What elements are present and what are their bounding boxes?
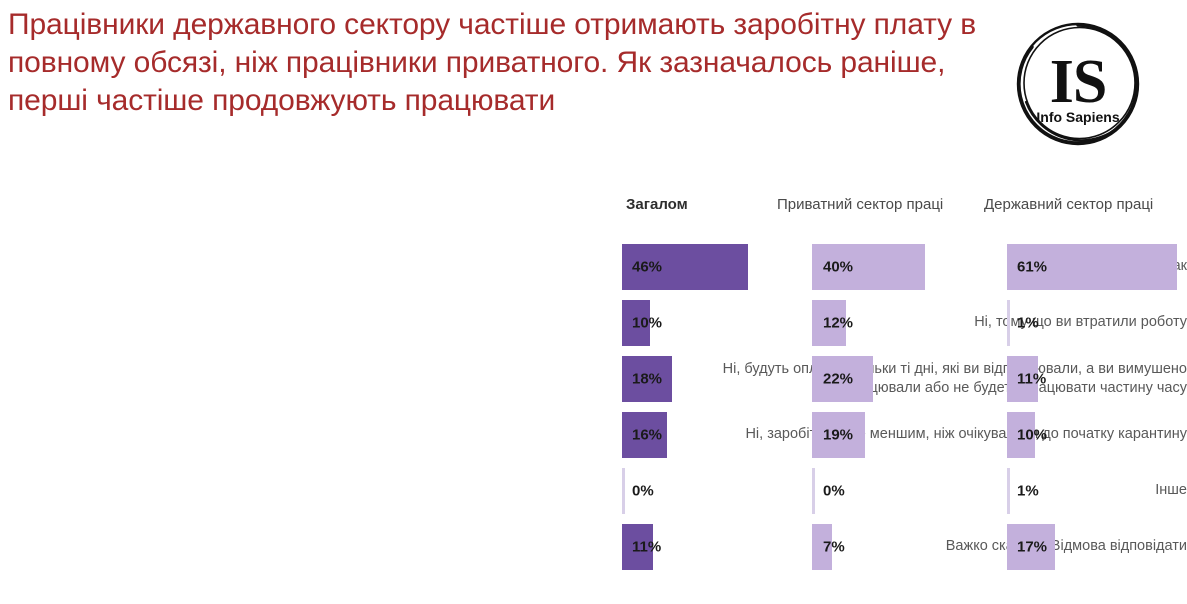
bar-public (1007, 468, 1010, 514)
bar-value-total: 16% (632, 427, 662, 444)
bar-value-public: 11% (1017, 371, 1046, 388)
column-header-private-sector: Приватний сектор праці (777, 196, 943, 213)
bar-value-private: 12% (823, 315, 853, 332)
chart-row: Важко сказати/ Відмова відповідати 11% 7… (0, 524, 1187, 570)
bar-value-public: 17% (1017, 539, 1047, 556)
bar-value-private: 22% (823, 371, 853, 388)
bar-value-total: 10% (632, 315, 662, 332)
title-block: Працівники державного сектору частіше от… (8, 6, 1008, 120)
bar-value-public: 10% (1017, 427, 1047, 444)
bar-total (622, 468, 625, 514)
bar-value-total: 18% (632, 371, 662, 388)
bar-value-total: 0% (632, 483, 654, 500)
chart-row: Так 46% 40% 61% (0, 244, 1187, 290)
row-bars: 0% 0% 1% (0, 468, 1187, 514)
bar-value-public: 61% (1017, 259, 1047, 276)
info-sapiens-logo: IS Info Sapiens (1012, 18, 1144, 150)
bar-private (812, 468, 815, 514)
bar-value-total: 11% (632, 539, 661, 556)
column-header-total: Загалом (626, 196, 688, 213)
bar-value-public: 1% (1017, 483, 1039, 500)
svg-text:Info Sapiens: Info Sapiens (1036, 109, 1119, 125)
bar-public (1007, 300, 1010, 346)
row-bars: 10% 12% 1% (0, 300, 1187, 346)
bar-value-private: 0% (823, 483, 845, 500)
chart-row: Ні, тому що ви втратили роботу 10% 12% 1… (0, 300, 1187, 346)
chart-row: Ні, заробіток буде меншим, ніж очікувало… (0, 412, 1187, 458)
row-bars: 16% 19% 10% (0, 412, 1187, 458)
chart-row: Інше 0% 0% 1% (0, 468, 1187, 514)
page-title: Працівники державного сектору частіше от… (8, 6, 1008, 120)
bar-value-public: 1% (1017, 315, 1039, 332)
bar-value-private: 40% (823, 259, 853, 276)
bar-value-private: 7% (823, 539, 845, 556)
svg-text:IS: IS (1050, 48, 1107, 116)
grouped-bar-chart: Загалом Приватний сектор праці Державний… (0, 196, 1187, 604)
column-header-public-sector: Державний сектор праці (984, 196, 1153, 213)
row-bars: 18% 22% 11% (0, 356, 1187, 402)
bar-value-total: 46% (632, 259, 662, 276)
chart-row: Ні, будуть оплачені тільки ті дні, які в… (0, 356, 1187, 402)
row-bars: 46% 40% 61% (0, 244, 1187, 290)
row-bars: 11% 7% 17% (0, 524, 1187, 570)
bar-value-private: 19% (823, 427, 853, 444)
